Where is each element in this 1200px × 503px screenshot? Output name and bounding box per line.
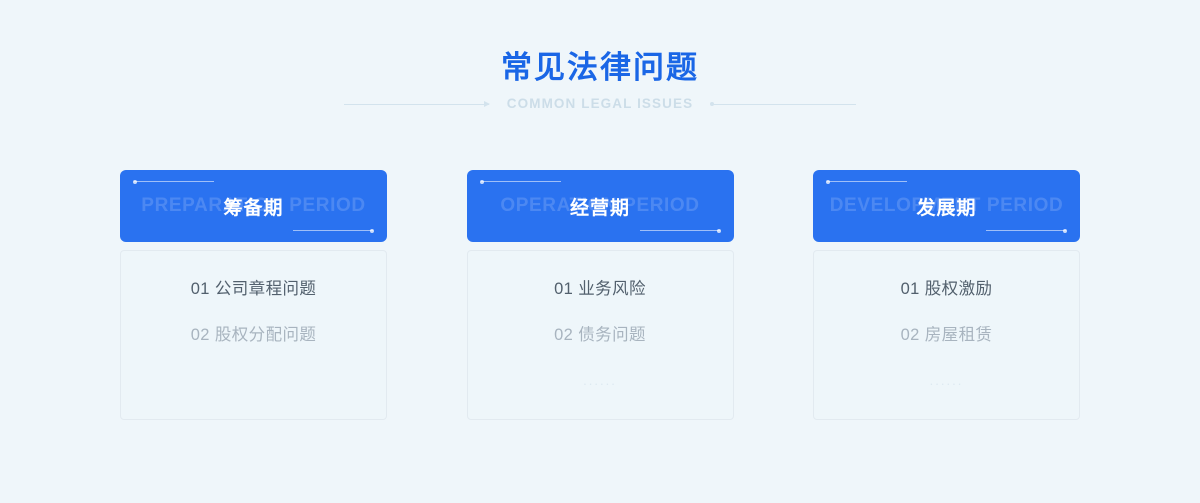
item-label: 房屋租赁 [925,326,993,344]
card-body: 01公司章程问题 02股权分配问题 ...... [120,250,387,420]
page-subtitle: COMMON LEGAL ISSUES [507,96,693,111]
item-number: 02 [554,326,573,344]
list-item-more: ...... [814,369,1079,393]
header-line-bottom-right-icon [293,230,373,231]
item-number: 02 [191,326,210,344]
line-bar [711,104,856,105]
list-item[interactable]: 02股权分配问题 [121,323,386,347]
card-title: 筹备期 [223,193,283,220]
card-header[interactable]: OPERATION PERIOD 经营期 [467,170,734,242]
list-item-more: ...... [468,369,733,393]
decorative-arrow-line-right [711,99,856,109]
stage-card-development[interactable]: DEVELOPMENT PERIOD 发展期 01股权激励 02房屋租赁 ...… [813,170,1080,420]
item-number: 02 [901,326,920,344]
card-body: 01股权激励 02房屋租赁 ...... [813,250,1080,420]
header-line-bottom-right-icon [640,230,720,231]
card-header[interactable]: DEVELOPMENT PERIOD 发展期 [813,170,1080,242]
item-label: 股权分配问题 [215,326,316,344]
page-root: 常见法律问题 COMMON LEGAL ISSUES PREPARATION P… [0,0,1200,503]
item-number: 01 [191,280,210,298]
list-item[interactable]: 02债务问题 [468,323,733,347]
header-line-top-left-icon [481,181,561,182]
item-number: 01 [901,280,920,298]
card-title: 发展期 [916,193,976,220]
card-title: 经营期 [570,193,630,220]
list-item[interactable]: 01公司章程问题 [121,277,386,301]
stage-card-operation[interactable]: OPERATION PERIOD 经营期 01业务风险 02债务问题 .....… [467,170,734,420]
card-list: PREPARATION PERIOD 筹备期 01公司章程问题 02股权分配问题… [120,170,1080,420]
item-label: 股权激励 [925,280,993,298]
card-header[interactable]: PREPARATION PERIOD 筹备期 [120,170,387,242]
header-line-top-left-icon [134,181,214,182]
stage-card-preparation[interactable]: PREPARATION PERIOD 筹备期 01公司章程问题 02股权分配问题… [120,170,387,420]
item-label: 公司章程问题 [215,280,316,298]
decorative-arrow-line-left [344,99,489,109]
item-label: 债务问题 [578,326,646,344]
list-item[interactable]: 02房屋租赁 [814,323,1079,347]
header-line-bottom-right-icon [986,230,1066,231]
line-bar [344,104,489,105]
arrow-head-icon [484,101,490,107]
list-item[interactable]: 01股权激励 [814,277,1079,301]
dot-icon [710,102,714,106]
header-line-top-left-icon [827,181,907,182]
list-item[interactable]: 01业务风险 [468,277,733,301]
item-number: 01 [554,280,573,298]
item-label: 业务风险 [578,280,646,298]
card-body: 01业务风险 02债务问题 ...... [467,250,734,420]
page-title: 常见法律问题 [0,48,1200,88]
subtitle-row: COMMON LEGAL ISSUES [0,96,1200,111]
section-heading: 常见法律问题 COMMON LEGAL ISSUES [0,0,1200,111]
